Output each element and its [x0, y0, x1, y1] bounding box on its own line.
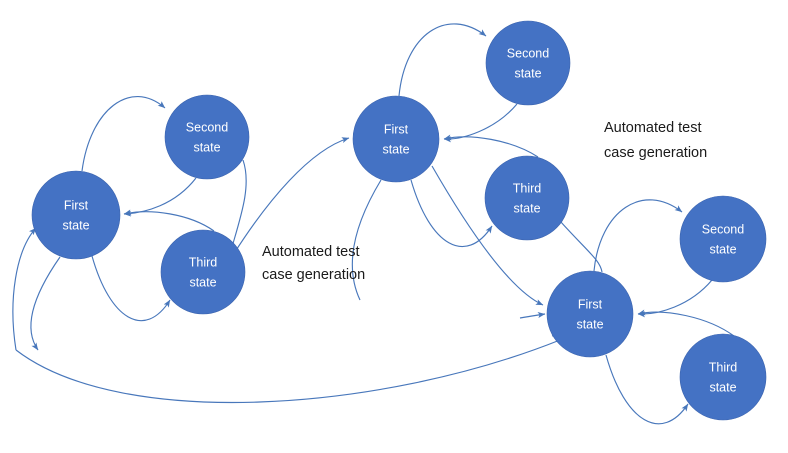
edges-long-bottom	[16, 333, 571, 402]
edge-mid-third-to-right-region	[560, 221, 602, 272]
node-mid-second-state[interactable]: Second state	[486, 21, 570, 105]
edge-left-first-to-second	[82, 97, 165, 171]
node-circle[interactable]	[680, 334, 766, 420]
node-circle[interactable]	[353, 96, 439, 182]
edge-left-return-to-first	[13, 228, 36, 350]
node-label-line1: First	[64, 198, 89, 212]
edge-right-first-inbound-left	[520, 314, 545, 318]
edge-mid-third-to-first	[444, 137, 538, 157]
node-circle[interactable]	[161, 230, 245, 314]
node-circle[interactable]	[32, 171, 120, 259]
nodes-cluster-right: First state Second state Third state	[547, 196, 766, 420]
node-label-line2: state	[513, 201, 540, 215]
node-right-third-state[interactable]: Third state	[680, 334, 766, 420]
node-label-line1: Second	[186, 120, 228, 134]
annotation-right-line2: case generation	[604, 145, 707, 161]
node-mid-first-state[interactable]: First state	[353, 96, 439, 182]
nodes-cluster-left: First state Second state Third state	[32, 95, 249, 314]
node-right-first-state[interactable]: First state	[547, 271, 633, 357]
node-left-third-state[interactable]: Third state	[161, 230, 245, 314]
node-label-line1: Second	[507, 46, 549, 60]
edge-right-first-to-third	[606, 355, 688, 424]
node-label-line2: state	[382, 142, 409, 156]
edge-left-first-selfloop-lower	[31, 257, 60, 350]
node-label-line1: First	[384, 122, 409, 136]
node-label-line2: state	[62, 218, 89, 232]
edge-long-bottom-sweep	[16, 340, 560, 402]
node-left-second-state[interactable]: Second state	[165, 95, 249, 179]
annotation-left-line1: Automated test	[262, 244, 360, 260]
node-label-line1: Third	[709, 360, 738, 374]
edge-left-third-to-mid-first	[233, 138, 349, 255]
node-label-line1: Third	[189, 255, 218, 269]
node-circle[interactable]	[485, 156, 569, 240]
edge-mid-first-to-third	[411, 180, 492, 247]
node-label-line2: state	[709, 242, 736, 256]
node-left-first-state[interactable]: First state	[32, 171, 120, 259]
node-label-line2: state	[576, 317, 603, 331]
node-circle[interactable]	[547, 271, 633, 357]
node-label-line2: state	[189, 275, 216, 289]
edge-left-third-to-first	[124, 212, 214, 231]
annotation-right-line1: Automated test	[604, 120, 702, 136]
node-label-line2: state	[193, 140, 220, 154]
edge-left-first-to-third	[92, 256, 170, 321]
edge-right-second-to-first	[638, 280, 712, 314]
node-circle[interactable]	[680, 196, 766, 282]
annotation-right: Automated test case generation	[604, 120, 707, 161]
annotation-left: Automated test case generation	[262, 244, 365, 283]
edge-mid-second-to-first	[444, 104, 517, 139]
edge-right-first-to-second	[594, 200, 682, 271]
node-circle[interactable]	[486, 21, 570, 105]
node-right-second-state[interactable]: Second state	[680, 196, 766, 282]
edge-mid-first-to-second	[399, 24, 486, 96]
node-label-line2: state	[514, 66, 541, 80]
node-label-line1: Third	[513, 181, 542, 195]
edge-right-third-to-first	[638, 312, 734, 336]
nodes-cluster-middle: First state Second state Third state	[353, 21, 570, 240]
node-label-line1: First	[578, 297, 603, 311]
diagram-canvas: First state Second state Third state Fir…	[0, 0, 788, 453]
node-mid-third-state[interactable]: Third state	[485, 156, 569, 240]
node-circle[interactable]	[165, 95, 249, 179]
node-label-line2: state	[709, 380, 736, 394]
annotation-left-line2: case generation	[262, 267, 365, 283]
edge-left-second-to-first	[124, 178, 196, 214]
node-label-line1: Second	[702, 222, 744, 236]
state-diagram: First state Second state Third state Fir…	[0, 0, 788, 453]
